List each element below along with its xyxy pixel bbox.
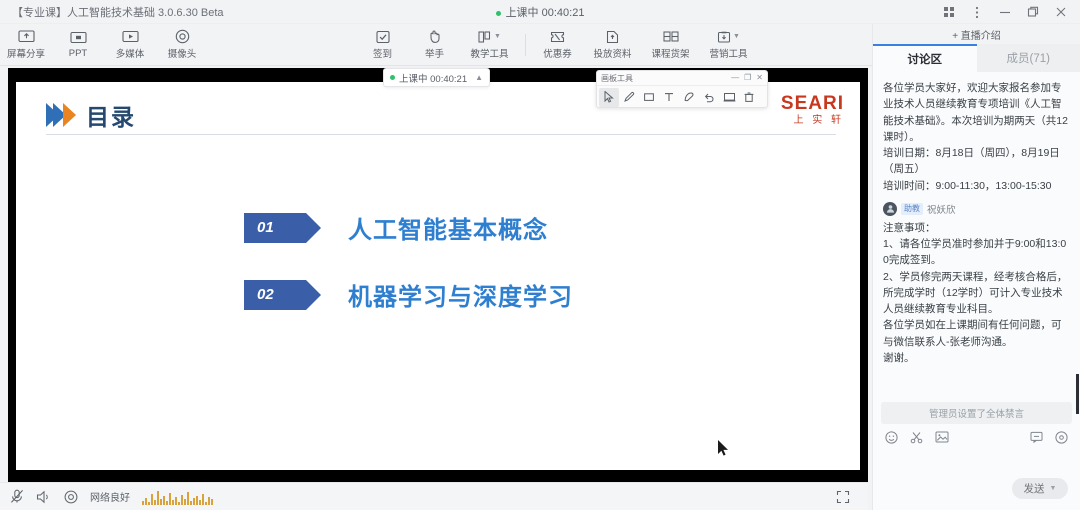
agenda-list: 01 人工智能基本概念 02 机器学习与深度学习 [244,210,573,344]
marketing-tools-icon: ▼ [717,29,740,44]
chat-input-toolbar [873,424,1080,450]
toolbar-label: 屏幕分享 [7,46,45,60]
materials-icon [606,29,619,44]
toolbar-item-camera[interactable]: 摄像头 [156,25,208,65]
teaching-tools-icon: ▼ [478,29,501,44]
live-intro-button[interactable]: + 直播介绍 [873,24,1080,44]
emoji-icon[interactable] [885,431,898,444]
toolbar-item-coupon[interactable]: 优惠券 [532,25,584,65]
agenda-item: 01 人工智能基本概念 [244,210,573,245]
agenda-item-label: 人工智能基本概念 [348,210,548,245]
toolbar-item-screen-share[interactable]: 屏幕分享 [0,25,52,65]
toolbar-center-group: 签到 举手 ▼ 教学工具 [357,25,519,65]
chevron-down-icon[interactable]: ▼ [1050,485,1057,492]
scissors-icon[interactable] [910,431,923,444]
send-button-label: 发送 [1024,481,1045,496]
mute-notice: 管理员设置了全体禁言 [881,402,1072,424]
palette-tool-row [597,86,767,108]
chat-message-body: 各位学员大家好，欢迎大家报名参加专业技术人员继续教育专项培训《人工智能技术基础》… [883,80,1070,194]
course-shelf-icon [663,29,679,44]
eraser-icon[interactable] [679,88,699,107]
toolbar-item-materials[interactable]: 投放资料 [584,25,642,65]
bottom-status-bar: 网络良好 [0,482,868,510]
sender-name: 祝妖欣 [927,202,956,216]
maximize-icon[interactable] [1020,1,1046,23]
ppt-icon [70,31,87,46]
tab-label: 讨论区 [908,51,943,67]
toolbar-item-checkin[interactable]: 签到 [357,25,409,65]
toolbar-label: PPT [69,48,87,59]
palette-title: 画板工具 [601,73,633,84]
checkin-icon [376,29,390,44]
presentation-stage: 目录 SEARI 上 实 轩 01 人工智能基本概念 02 机器学习与深度学习 [8,68,868,482]
chevron-decoration-icon [46,103,76,127]
live-class-app: 【专业课】人工智能技术基础 3.0.6.30 Beta 上课中 00:40:21 [0,0,1080,510]
chat-message: 各位学员大家好，欢迎大家报名参加专业技术人员继续教育专项培训《人工智能技术基础》… [883,80,1070,194]
minimize-icon[interactable] [992,1,1018,23]
send-button[interactable]: 发送 ▼ [1012,478,1068,499]
chat-input-toolbar-right [1030,431,1068,444]
grid-icon[interactable] [936,1,962,23]
avatar[interactable] [883,202,897,216]
live-dot-icon [496,11,501,16]
chat-scrollbar[interactable] [1076,76,1079,396]
chat-message-body: 注意事项： 1、请各位学员准时参加并于9:00和13:00完成签到。 2、学员修… [883,220,1070,366]
logo-main-text: SEARI [781,94,844,113]
palette-minimize-icon[interactable]: — [731,74,739,82]
toolbar-label: 举手 [425,46,444,60]
window-controls [936,0,1074,24]
send-row: 发送 ▼ [873,472,1080,510]
stage-status-chip[interactable]: 上课中 00:40:21 ▲ [383,68,490,87]
screen-share-icon [18,29,35,44]
agenda-item: 02 机器学习与深度学习 [244,277,573,312]
live-intro-label: + 直播介绍 [952,27,1001,42]
role-badge: 助教 [901,203,923,215]
toolbar-left-group: 屏幕分享 PPT 多媒体 摄像头 [0,25,208,65]
camera-icon[interactable] [64,490,78,504]
mute-notice-label: 管理员设置了全体禁言 [929,406,1024,420]
toolbar-label: 营销工具 [709,46,747,60]
toolbar-label: 多媒体 [116,46,145,60]
stage-status-text: 上课中 00:40:21 [399,71,467,85]
panel-tabs: 讨论区 成员(71) [873,44,1080,72]
toolbar-label: 签到 [373,46,392,60]
live-status: 上课中 00:40:21 [0,4,1080,20]
tab-discussion[interactable]: 讨论区 [873,44,977,72]
toolbar-label: 教学工具 [470,46,508,60]
image-icon[interactable] [935,431,949,443]
rectangle-icon[interactable] [639,88,659,107]
slide-canvas[interactable]: 目录 SEARI 上 实 轩 01 人工智能基本概念 02 机器学习与深度学习 [16,82,860,470]
company-logo: SEARI 上 实 轩 [781,94,844,126]
agenda-number-badge: 02 [244,280,306,310]
toolbar-item-multimedia[interactable]: 多媒体 [104,25,156,65]
chat-message-list[interactable]: 各位学员大家好，欢迎大家报名参加专业技术人员继续教育专项培训《人工智能技术基础》… [873,72,1080,396]
chat-input-field[interactable] [873,450,1080,472]
toolbar-item-marketing-tools[interactable]: ▼ 营销工具 [700,25,758,65]
message-box-icon[interactable] [1030,431,1043,444]
pen-icon[interactable] [619,88,639,107]
agenda-number-badge: 01 [244,213,306,243]
toolbar-item-teaching-tools[interactable]: ▼ 教学工具 [461,25,519,65]
right-panel: + 直播介绍 讨论区 成员(71) 各位学员大家好，欢迎大家报名参加专业技术人员… [872,24,1080,510]
fullscreen-icon[interactable] [836,490,858,504]
logo-sub-text: 上 实 轩 [781,116,844,126]
whiteboard-icon[interactable] [719,88,739,107]
chevron-up-icon[interactable]: ▲ [475,73,483,82]
toolbar-label: 课程货架 [651,46,689,60]
live-dot-icon [390,75,395,80]
slide-title: 目录 [86,98,136,132]
toolbar-label: 优惠券 [543,46,572,60]
chevron-down-icon: ▼ [494,33,501,40]
toolbar-divider [525,34,526,56]
whiteboard-tool-palette[interactable]: 画板工具 — ❐ ✕ [596,70,768,108]
palette-header: 画板工具 — ❐ ✕ [597,71,767,86]
more-icon[interactable] [964,1,990,23]
undo-icon[interactable] [699,88,719,107]
toolbar-item-raise-hand[interactable]: 举手 [409,25,461,65]
chat-message-header: 助教 祝妖欣 [883,202,1070,216]
palette-close-icon[interactable]: ✕ [756,74,763,82]
tab-label: 成员(71) [1007,50,1050,66]
multimedia-icon [122,29,139,44]
live-status-text: 上课中 00:40:21 [506,7,585,19]
mouse-cursor-icon [718,440,730,457]
network-status-label: 网络良好 [90,489,130,504]
settings-icon[interactable] [1055,431,1068,444]
chat-message: 助教 祝妖欣 注意事项： 1、请各位学员准时参加并于9:00和13:00完成签到… [883,202,1070,366]
raise-hand-icon [428,29,442,44]
toolbar-item-course-shelf[interactable]: 课程货架 [642,25,700,65]
slide-divider [46,134,836,135]
mic-muted-icon[interactable] [10,489,24,504]
text-icon[interactable] [659,88,679,107]
camera-icon [175,29,190,44]
agenda-item-label: 机器学习与深度学习 [348,277,573,312]
palette-window-controls: — ❐ ✕ [731,74,763,82]
coupon-icon [550,29,565,44]
slide-header: 目录 [46,98,136,132]
title-bar: 【专业课】人工智能技术基础 3.0.6.30 Beta 上课中 00:40:21 [0,0,1080,24]
toolbar-label: 摄像头 [168,46,197,60]
palette-maximize-icon[interactable]: ❐ [744,74,751,82]
tab-members[interactable]: 成员(71) [977,44,1080,72]
toolbar-label: 投放资料 [593,46,631,60]
speaker-icon[interactable] [36,490,52,504]
close-icon[interactable] [1048,1,1074,23]
toolbar-center-group-2: 优惠券 投放资料 课程货架 ▼ 营销工具 [532,25,758,65]
chevron-down-icon: ▼ [733,33,740,40]
toolbar-item-ppt[interactable]: PPT [52,25,104,65]
audio-waveform [142,489,213,505]
trash-icon[interactable] [739,88,759,107]
select-cursor-icon[interactable] [599,88,619,107]
